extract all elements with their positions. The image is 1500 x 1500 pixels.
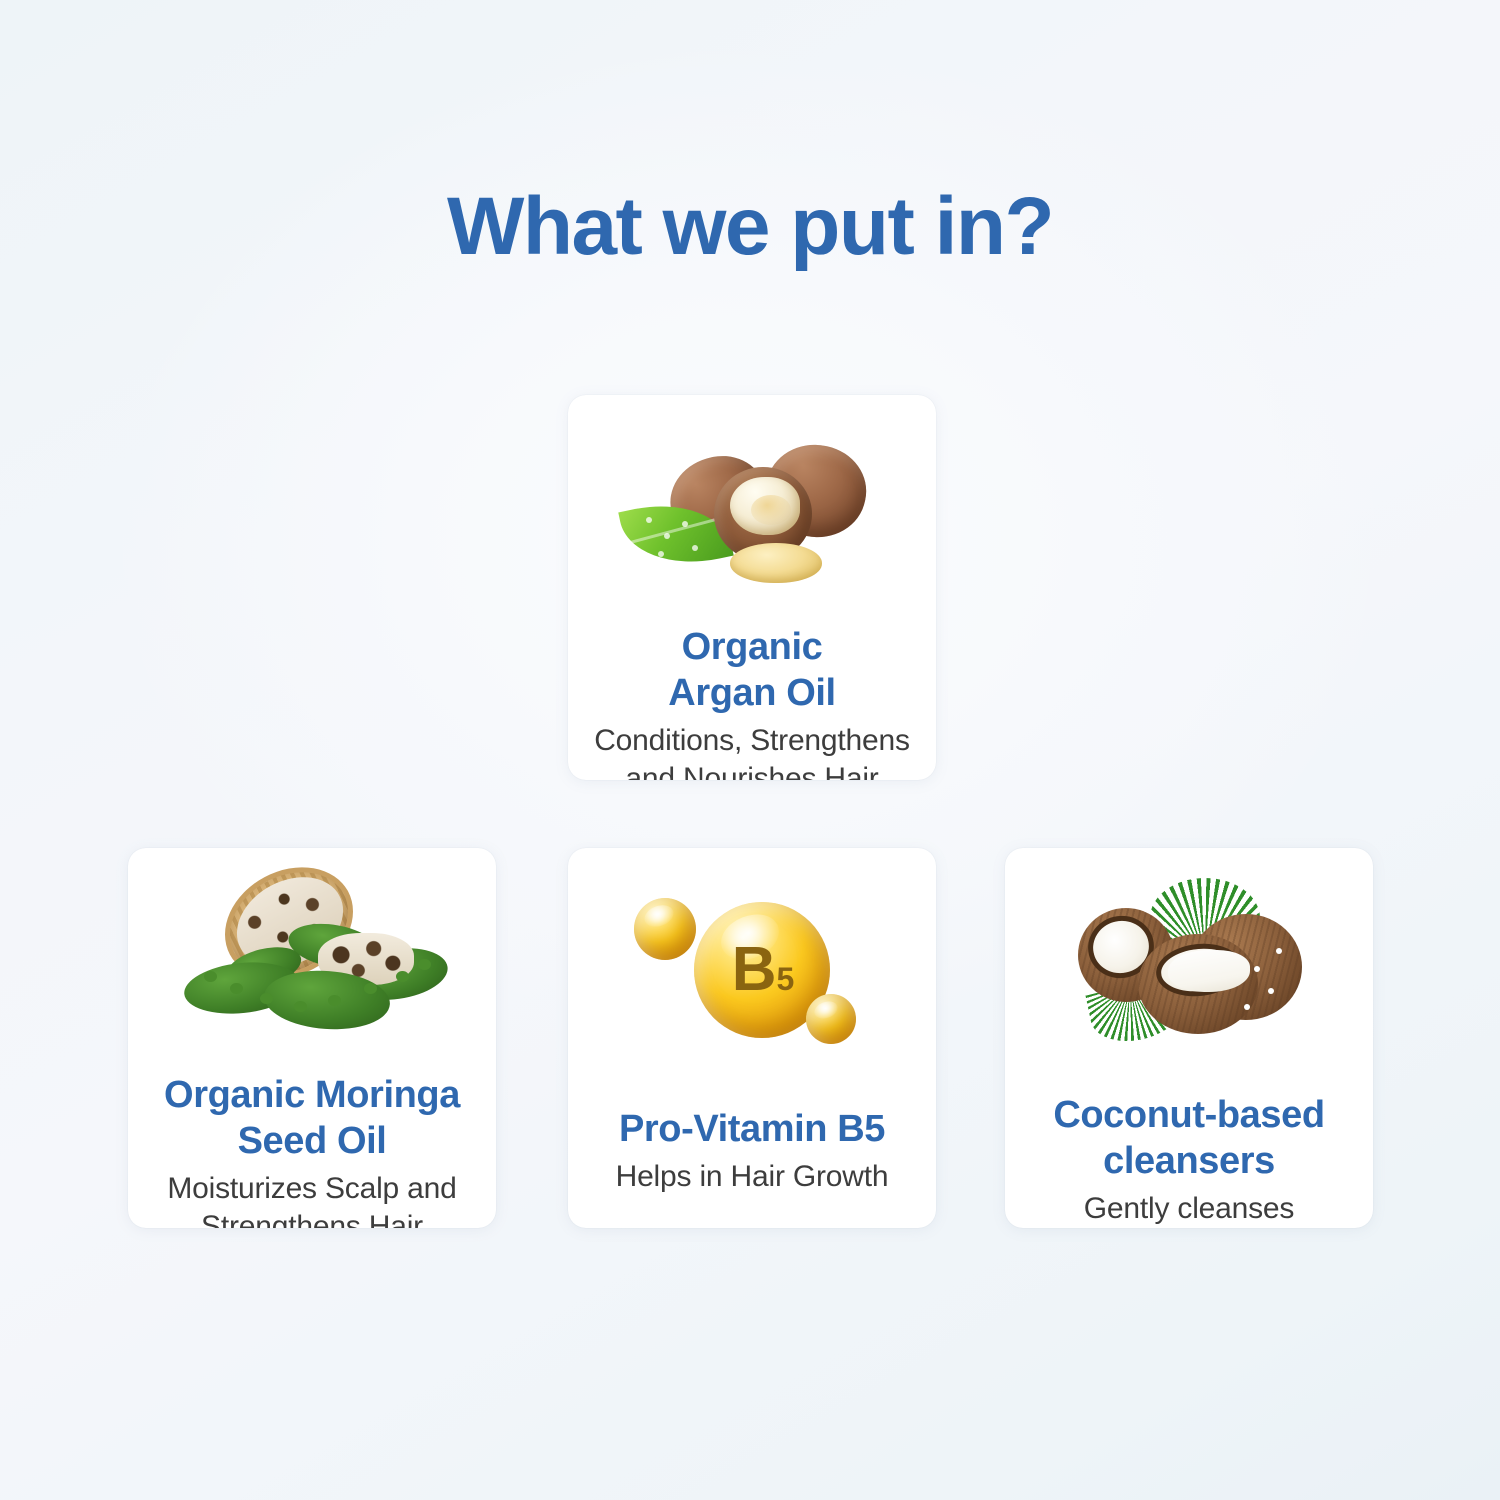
b5-vitamin-label: B5 bbox=[694, 902, 830, 1038]
ingredient-card-coconut-based-cleansers[interactable]: Coconut-based cleansers Gently cleanses bbox=[1005, 848, 1373, 1228]
ingredient-infographic: What we put in? Organic bbox=[0, 0, 1500, 1500]
b5-subscript: 5 bbox=[776, 948, 793, 1010]
argan-nuts-illustration bbox=[568, 395, 936, 610]
card-subtitle-line1: Moisturizes Scalp and bbox=[167, 1172, 456, 1205]
dew-drop-icon bbox=[646, 517, 652, 523]
card-subtitle-line1: Helps in Hair Growth bbox=[616, 1160, 889, 1193]
card-heading-line1: Organic Moringa bbox=[164, 1074, 460, 1116]
dew-drop-icon bbox=[664, 533, 670, 539]
milk-droplet bbox=[1276, 948, 1282, 954]
milk-droplet bbox=[1268, 988, 1274, 994]
page-title: What we put in? bbox=[0, 179, 1500, 275]
card-subtitle: Gently cleanses bbox=[1019, 1190, 1359, 1228]
card-heading: Pro-Vitamin B5 bbox=[582, 1106, 922, 1152]
card-subtitle-line1: Conditions, Strengthens bbox=[594, 724, 910, 757]
b5-letter: B bbox=[732, 939, 776, 1001]
ingredient-card-pro-vitamin-b5[interactable]: B5 Pro-Vitamin B5 Helps in Hair Growth bbox=[568, 848, 936, 1228]
moringa-seeds-basket-illustration bbox=[128, 848, 496, 1050]
card-text-block: Pro-Vitamin B5 Helps in Hair Growth bbox=[568, 1106, 936, 1196]
coconut-halves-illustration bbox=[1005, 848, 1373, 1058]
vitamin-b5-droplet-illustration: B5 bbox=[568, 848, 936, 1070]
card-subtitle: Helps in Hair Growth bbox=[582, 1158, 922, 1196]
argan-kernel-highlight bbox=[751, 495, 791, 525]
milk-droplet bbox=[1244, 1004, 1250, 1010]
moringa-leaflet bbox=[230, 983, 243, 994]
moringa-leaflet bbox=[204, 971, 217, 982]
card-subtitle: Conditions, Strengthens and Nourishes Ha… bbox=[582, 722, 922, 780]
card-subtitle-line1: Gently cleanses bbox=[1084, 1192, 1294, 1225]
card-subtitle-line2: Strengthens Hair bbox=[201, 1210, 423, 1228]
card-subtitle-line2: and Nourishes Hair bbox=[625, 762, 878, 780]
ingredient-card-organic-moringa-seed-oil[interactable]: Organic Moringa Seed Oil Moisturizes Sca… bbox=[128, 848, 496, 1228]
card-heading-line1: Pro-Vitamin B5 bbox=[619, 1108, 885, 1150]
dew-drop-icon bbox=[692, 545, 698, 551]
moringa-leaflet bbox=[260, 993, 273, 1004]
moringa-leaflet bbox=[364, 983, 377, 994]
card-heading: Coconut-based cleansers bbox=[1019, 1092, 1359, 1184]
moringa-leaflet bbox=[328, 995, 341, 1006]
card-heading: Organic Argan Oil bbox=[582, 624, 922, 716]
milk-droplet bbox=[1254, 966, 1260, 972]
dew-drop-icon bbox=[682, 521, 688, 527]
card-heading-line2: Seed Oil bbox=[238, 1120, 387, 1162]
card-heading-line1: Coconut-based bbox=[1053, 1094, 1324, 1136]
dew-drop-icon bbox=[658, 551, 664, 557]
card-text-block: Organic Moringa Seed Oil Moisturizes Sca… bbox=[128, 1072, 496, 1228]
card-subtitle: Moisturizes Scalp and Strengthens Hair bbox=[142, 1170, 482, 1228]
argan-oil-drop-icon bbox=[730, 543, 822, 583]
coconut-milk-splash-icon bbox=[1168, 950, 1250, 992]
card-text-block: Coconut-based cleansers Gently cleanses bbox=[1005, 1092, 1373, 1228]
card-heading-line2: Argan Oil bbox=[668, 672, 835, 714]
ingredient-card-organic-argan-oil[interactable]: Organic Argan Oil Conditions, Strengthen… bbox=[568, 395, 936, 780]
moringa-leaflet bbox=[396, 971, 409, 982]
moringa-leaflet bbox=[418, 959, 431, 970]
moringa-leaflet bbox=[294, 1001, 307, 1012]
card-heading: Organic Moringa Seed Oil bbox=[142, 1072, 482, 1164]
card-heading-line2: cleansers bbox=[1103, 1140, 1275, 1182]
card-text-block: Organic Argan Oil Conditions, Strengthen… bbox=[568, 624, 936, 780]
card-heading-line1: Organic bbox=[682, 626, 823, 668]
